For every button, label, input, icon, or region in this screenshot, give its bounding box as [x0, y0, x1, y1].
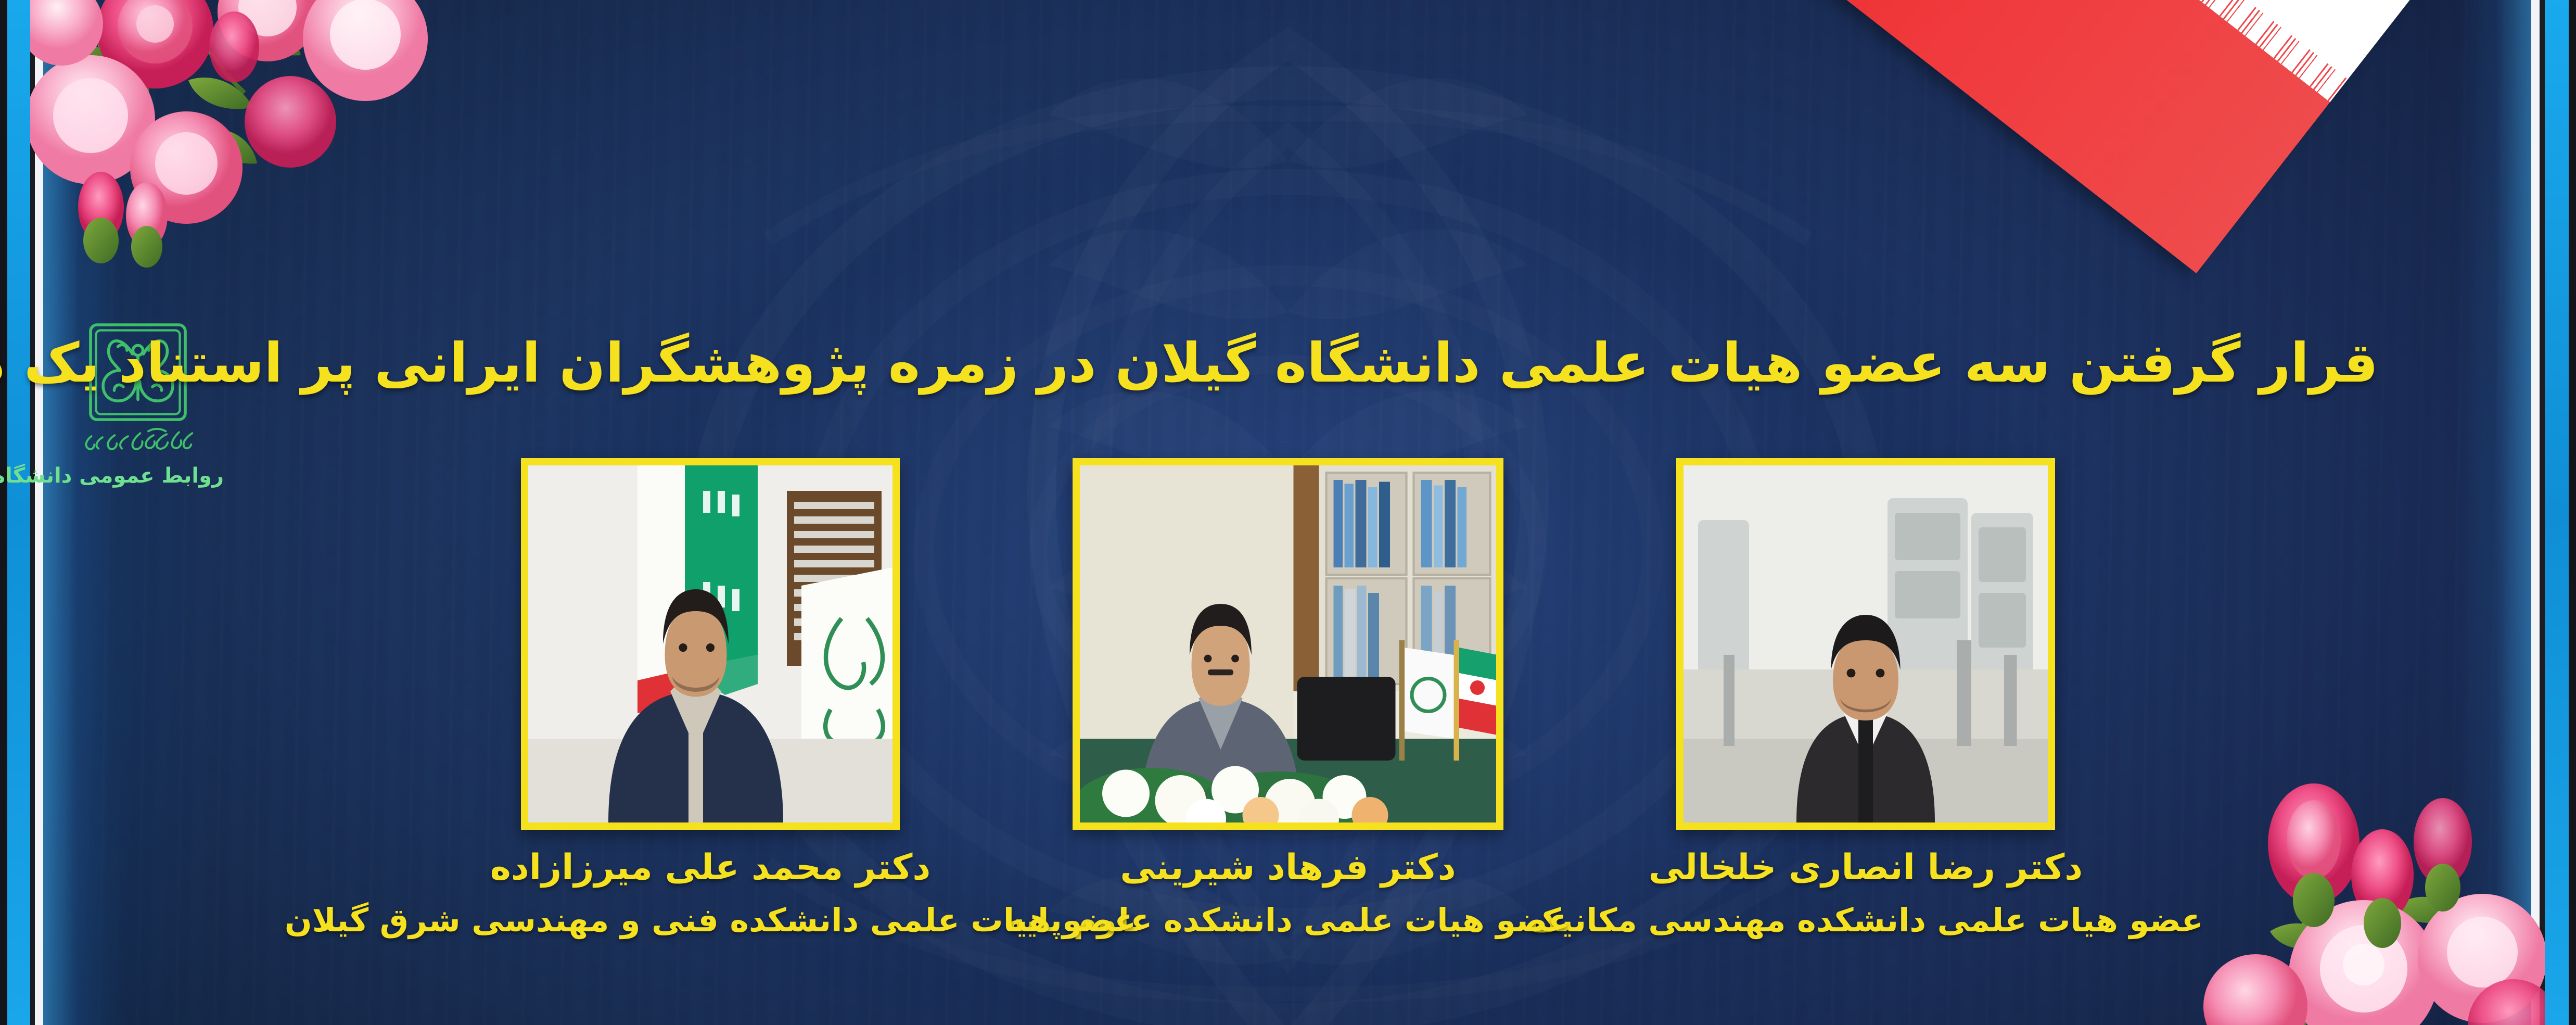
- photo-frame: [1073, 458, 1503, 830]
- researcher-name: دکتر رضا انصاری خلخالی: [1528, 847, 2203, 888]
- portrait-farhad-shirini: [1080, 465, 1496, 822]
- iran-flag: [1684, 0, 2576, 273]
- public-relations-label: روابط عمومی دانشگاه گیلان: [52, 464, 224, 487]
- university-announcement-banner: روابط عمومی دانشگاه گیلان قرار گرفتن سه …: [0, 0, 2576, 1025]
- researcher-role: عضو هیات علمی دانشکده مهندسی مکانیک: [1528, 902, 2203, 939]
- researcher-caption: دکتر رضا انصاری خلخالی عضو هیات علمی دان…: [1528, 847, 2203, 939]
- researcher-caption: دکتر محمد علی میرزازاده عضو هیات علمی دا…: [285, 847, 1136, 939]
- researchers-row: دکتر رضا انصاری خلخالی عضو هیات علمی دان…: [0, 458, 2576, 979]
- researcher-card: دکتر فرهاد شیرینی عضو هیات علمی دانشکده …: [1075, 458, 1501, 939]
- university-of-gilan-wordmark: [77, 423, 199, 456]
- researcher-card: دکتر رضا انصاری خلخالی عضو هیات علمی دان…: [1652, 458, 2079, 939]
- page-title: قرار گرفتن سه عضو هیات علمی دانشگاه گیلا…: [0, 333, 2576, 393]
- photo-frame: [521, 458, 900, 830]
- portrait-mohammad-ali-mirzazadeh: [528, 465, 892, 822]
- researcher-role: عضو هیات علمی دانشکده فنی و مهندسی شرق گ…: [285, 902, 1136, 939]
- researcher-card: دکتر محمد علی میرزازاده عضو هیات علمی دا…: [497, 458, 924, 939]
- portrait-reza-ansari-khalkhali: [1684, 465, 2048, 822]
- researcher-name: دکتر محمد علی میرزازاده: [285, 847, 1136, 888]
- photo-frame: [1676, 458, 2055, 830]
